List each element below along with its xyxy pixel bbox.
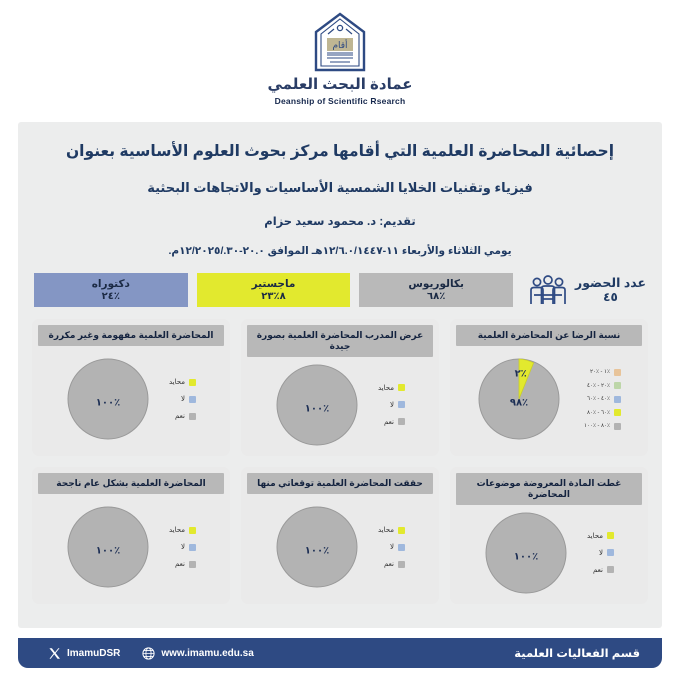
stats-strip: عدد الحضور ٤٥ [34,273,646,307]
card-header-overall-success: المحاضرة العلمية بشكل عام ناجحة [38,473,224,494]
card-header-met-expectations: حققت المحاضرة العلمية توقعاتي منها [247,473,433,494]
legend-item: نعم [363,418,405,426]
footer-links: www.imamu.edu.sa ImamuDSR [48,647,254,660]
legend-swatch-icon [189,544,196,551]
svg-text:أقام: أقام [332,39,347,51]
card-header-clarity-non-repetitive: المحاضرة العلمية مفهومة وغير مكررة [38,325,224,346]
pie-svg [66,357,150,441]
legend-label: نعم [384,560,394,568]
legend-item: ٪٢٠ - ٪٤٠ [565,382,621,389]
legend-label: محايد [587,532,603,540]
legend-swatch-icon [398,401,405,408]
chip-label-bachelor: بكالوريوس [408,278,464,290]
chart-card-met-expectations: حققت المحاضرة العلمية توقعاتي منها محايد… [241,467,439,604]
legend-swatch-icon [614,382,621,389]
legend-satisfaction: ٪١ - ٪٢٠ ٪٢٠ - ٪٤٠ ٪٤٠ - ٪٦٠ ٪٦٠ - [565,369,621,430]
legend-item: ٪٨٠ - ٪١٠٠ [565,423,621,430]
legend-default: محايد لا نعم [363,526,405,568]
pie-chart-clarity-non-repetitive: ٪١٠٠ [66,357,150,441]
legend-label: نعم [593,566,603,574]
legend-item: محايد [572,532,614,540]
legend-default: محايد لا نعم [154,526,196,568]
pie-svg [484,511,568,595]
legend-item: ٪٦٠ - ٪٨٠ [565,409,621,416]
legend-label: محايد [378,384,394,392]
x-twitter-icon [48,647,61,660]
masthead: أقام عمادة البحث العلمي Deanship of Scie… [0,0,680,122]
brand-name-ar: عمادة البحث العلمي [268,77,413,94]
legend-item: نعم [154,412,196,420]
card-body-presentation-quality: محايد لا نعم [247,357,433,449]
title-block: إحصائية المحاضرة العلمية التي أقامها مرك… [18,122,662,257]
chip-label-phd: دكتوراه [92,278,130,290]
legend-swatch-icon [398,384,405,391]
legend-label: لا [181,543,185,551]
legend-swatch-icon [189,413,196,420]
legend-item: لا [363,543,405,551]
pie-svg [275,363,359,447]
main-panel: إحصائية المحاضرة العلمية التي أقامها مرك… [18,122,662,628]
chart-card-content-coverage: غطت المادة المعروضة موضوعات المحاضرة محا… [450,467,648,604]
legend-label: نعم [175,412,185,420]
legend-default: محايد لا نعم [154,378,196,420]
legend-item: لا [363,401,405,409]
pie-chart-met-expectations: ٪١٠٠ [275,505,359,589]
legend-item: محايد [363,384,405,392]
legend-swatch-icon [398,527,405,534]
legend-label: محايد [378,526,394,534]
chart-card-satisfaction: نسبة الرضا عن المحاضرة العلمية ٪١ - ٪٢٠ … [450,319,648,456]
chart-card-grid: نسبة الرضا عن المحاضرة العلمية ٪١ - ٪٢٠ … [32,319,648,604]
footer-social-link[interactable]: ImamuDSR [48,647,120,660]
pie-chart-overall-success: ٪١٠٠ [66,505,150,589]
card-body-overall-success: محايد لا نعم [38,494,224,597]
legend-swatch-icon [189,379,196,386]
legend-swatch-icon [189,527,196,534]
legend-swatch-icon [614,409,621,416]
attendance-text: عدد الحضور ٤٥ [575,276,646,304]
card-header-content-coverage: غطت المادة المعروضة موضوعات المحاضرة [456,473,642,505]
infographic-page: أقام عمادة البحث العلمي Deanship of Scie… [0,0,680,680]
chart-card-clarity-non-repetitive: المحاضرة العلمية مفهومة وغير مكررة محايد… [32,319,230,456]
footer-social-text: ImamuDSR [67,648,120,659]
card-body-met-expectations: محايد لا نعم [247,494,433,597]
legend-item: نعم [572,566,614,574]
legend-label: محايد [169,526,185,534]
legend-item: لا [572,549,614,557]
stat-chip-bachelor: بكالوريوس ٪٦٨ [359,273,513,307]
legend-swatch-icon [614,423,621,430]
legend-item: لا [154,395,196,403]
legend-swatch-icon [189,561,196,568]
brand-name-en: Deanship of Scientific Rsearch [275,96,406,106]
pie-chart-content-coverage: ٪١٠٠ [484,511,568,595]
card-body-satisfaction: ٪١ - ٪٢٠ ٪٢٠ - ٪٤٠ ٪٤٠ - ٪٦٠ ٪٦٠ - [456,346,642,449]
chip-label-master: ماجستير [252,278,296,290]
legend-label: نعم [175,560,185,568]
chip-value-bachelor: ٪٦٨ [427,291,445,303]
legend-item: ٪١ - ٪٢٠ [565,369,621,376]
stat-chip-master: ماجستير ٨٪٢٣ [197,273,351,307]
chip-value-phd: ٪٢٤ [102,291,120,303]
footer-website-link[interactable]: www.imamu.edu.sa [142,647,253,660]
attendance-label: عدد الحضور [575,276,646,290]
legend-label: نعم [384,418,394,426]
legend-label: ٪٨٠ - ٪١٠٠ [584,423,610,429]
imam-university-dsr-emblem-icon: أقام [312,12,368,74]
card-body-clarity-non-repetitive: محايد لا نعم [38,346,224,449]
legend-item: ٪٤٠ - ٪٦٠ [565,396,621,403]
legend-item: نعم [363,560,405,568]
lecture-date: يومي الثلاثاء والأربعاء ١١-١٢/٦.٠/١٤٤٧هـ… [44,245,636,257]
attendance-value: ٤٥ [575,291,646,305]
legend-label: لا [599,549,603,557]
legend-swatch-icon [607,549,614,556]
card-body-content-coverage: محايد لا نعم [456,505,642,597]
stat-chip-phd: دكتوراه ٪٢٤ [34,273,188,307]
legend-label: ٪١ - ٪٢٠ [590,369,610,375]
legend-label: ٪٦٠ - ٪٨٠ [587,410,610,416]
chip-value-master: ٨٪٢٣ [261,291,285,303]
legend-label: محايد [169,378,185,386]
legend-item: لا [154,543,196,551]
card-header-satisfaction: نسبة الرضا عن المحاضرة العلمية [456,325,642,346]
legend-item: محايد [154,526,196,534]
legend-label: لا [181,395,185,403]
legend-swatch-icon [189,396,196,403]
pie-svg [66,505,150,589]
footer-website-text: www.imamu.edu.sa [161,648,253,659]
brand-logo: أقام عمادة البحث العلمي Deanship of Scie… [268,12,413,106]
globe-icon [142,647,155,660]
chart-card-presentation-quality: عرض المدرب المحاضرة العلمية بصورة جيدة م… [241,319,439,456]
legend-item: محايد [363,526,405,534]
legend-label: لا [390,401,394,409]
attendance-block: عدد الحضور ٤٥ [522,275,646,306]
legend-swatch-icon [607,566,614,573]
pie-svg [275,505,359,589]
footer-bar: قسم الفعاليات العلمية www.imamu.edu.sa I… [18,638,662,668]
legend-swatch-icon [398,418,405,425]
presenter-name: تقديم: د. محمود سعيد حزام [44,214,636,228]
legend-swatch-icon [398,544,405,551]
legend-swatch-icon [607,532,614,539]
legend-swatch-icon [614,369,621,376]
pie-svg [477,357,561,441]
legend-default: محايد لا نعم [572,532,614,574]
legend-label: ٪٢٠ - ٪٤٠ [587,383,610,389]
legend-item: محايد [154,378,196,386]
legend-label: لا [390,543,394,551]
legend-label: ٪٤٠ - ٪٦٠ [587,396,610,402]
lecture-subtitle: فيزياء وتقنيات الخلايا الشمسية الأساسيات… [44,180,636,196]
legend-item: نعم [154,560,196,568]
footer-department: قسم الفعاليات العلمية [514,646,640,660]
page-title: إحصائية المحاضرة العلمية التي أقامها مرك… [44,140,636,163]
card-header-presentation-quality: عرض المدرب المحاضرة العلمية بصورة جيدة [247,325,433,357]
legend-swatch-icon [398,561,405,568]
pie-chart-satisfaction: ٪٩٨ ٪٢ [477,357,561,441]
chart-card-overall-success: المحاضرة العلمية بشكل عام ناجحة محايد لا [32,467,230,604]
people-group-icon [528,275,568,306]
legend-swatch-icon [614,396,621,403]
pie-chart-presentation-quality: ٪١٠٠ [275,363,359,447]
legend-default: محايد لا نعم [363,384,405,426]
